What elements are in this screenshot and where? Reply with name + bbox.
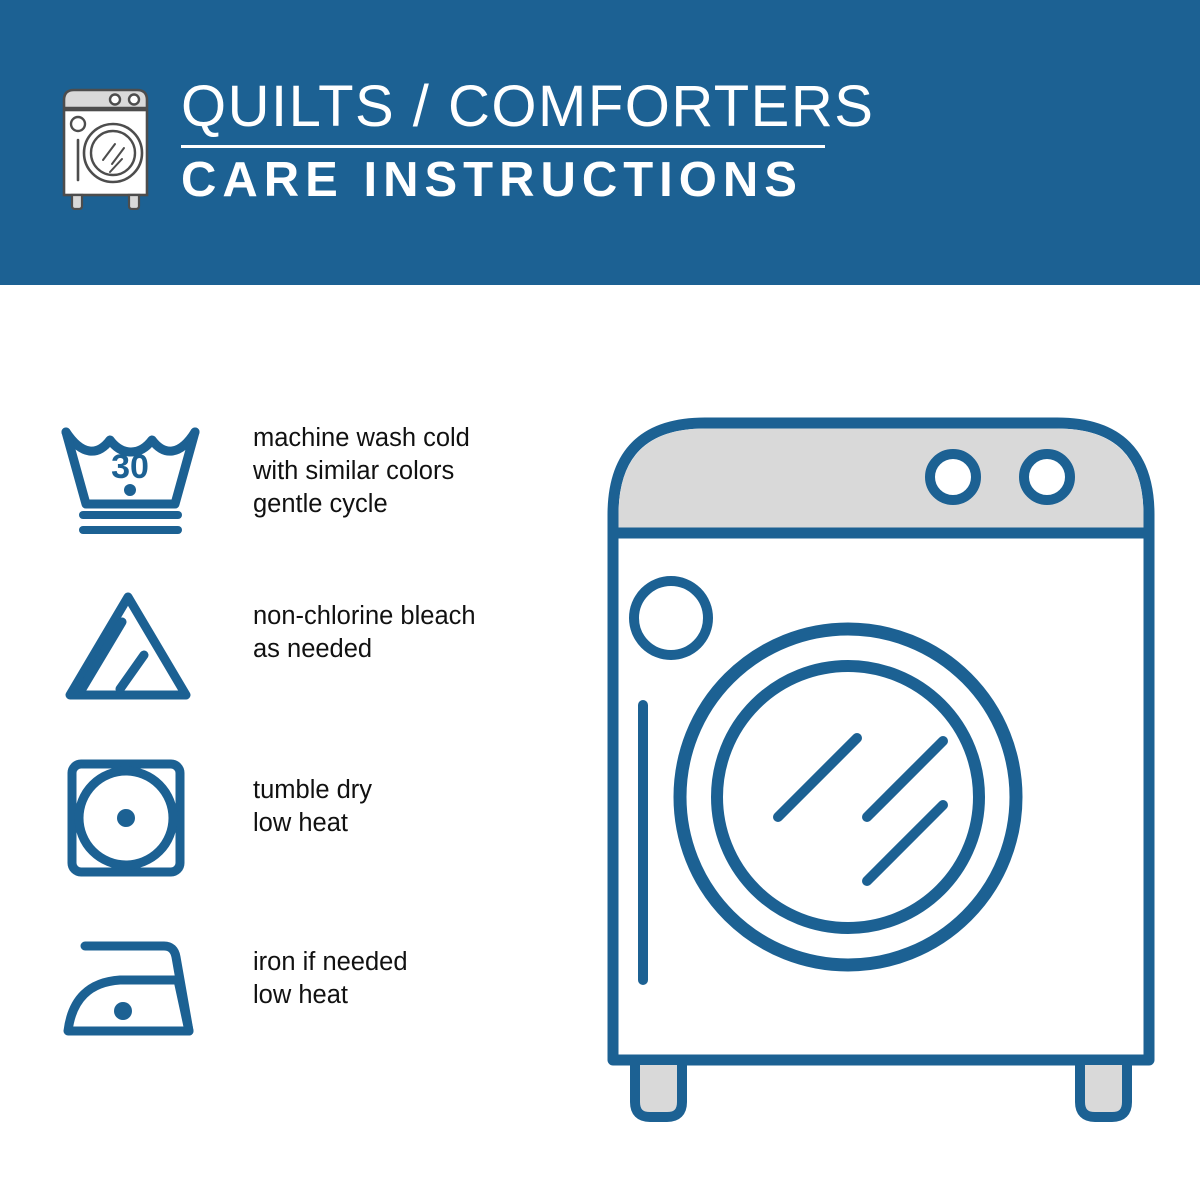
care-instruction-text: iron if needed low heat bbox=[253, 946, 408, 1012]
page-title: QUILTS / COMFORTERS bbox=[181, 78, 874, 136]
care-text-line: non-chlorine bleach bbox=[253, 600, 476, 633]
care-instruction-item: non-chlorine bleach as needed bbox=[0, 573, 560, 746]
door-inner-ring[interactable] bbox=[717, 666, 979, 928]
care-text-line: low heat bbox=[253, 807, 372, 840]
care-text-line: low heat bbox=[253, 979, 408, 1012]
header-banner: QUILTS / COMFORTERS CARE INSTRUCTIONS bbox=[0, 0, 1200, 285]
knob-left[interactable] bbox=[930, 454, 976, 500]
page-subtitle: CARE INSTRUCTIONS bbox=[181, 156, 874, 205]
wash-temperature-value: 30 bbox=[111, 448, 149, 486]
care-instruction-text: machine wash cold with similar colors ge… bbox=[253, 422, 470, 521]
care-text-line: as needed bbox=[253, 633, 476, 666]
care-instruction-item: 30 machine wash cold with similar colors… bbox=[0, 400, 560, 573]
care-text-line: machine wash cold bbox=[253, 422, 470, 455]
care-instruction-text: non-chlorine bleach as needed bbox=[253, 600, 476, 666]
care-text-line: tumble dry bbox=[253, 774, 372, 807]
care-instruction-item: iron if needed low heat bbox=[0, 919, 560, 1092]
header-content: QUILTS / COMFORTERS CARE INSTRUCTIONS bbox=[55, 78, 874, 210]
wash-tub-30-gentle-icon: 30 bbox=[58, 416, 203, 541]
knob-right[interactable] bbox=[1024, 454, 1070, 500]
front-load-washing-machine-illustration bbox=[595, 405, 1175, 1125]
care-text-line: with similar colors bbox=[253, 455, 470, 488]
care-text-line: gentle cycle bbox=[253, 488, 470, 521]
care-instruction-item: tumble dry low heat bbox=[0, 746, 560, 919]
title-divider bbox=[181, 145, 825, 148]
care-instructions-list: 30 machine wash cold with similar colors… bbox=[0, 400, 560, 1092]
header-title-group: QUILTS / COMFORTERS CARE INSTRUCTIONS bbox=[181, 78, 874, 205]
washing-machine-icon bbox=[55, 82, 163, 210]
care-instruction-text: tumble dry low heat bbox=[253, 774, 372, 840]
leg-right bbox=[1080, 1060, 1127, 1117]
bleach-triangle-non-chlorine-icon bbox=[58, 585, 203, 710]
care-text-line: iron if needed bbox=[253, 946, 408, 979]
leg-left bbox=[635, 1060, 682, 1117]
indicator-light bbox=[634, 581, 708, 655]
tumble-dry-low-heat-icon bbox=[58, 756, 203, 881]
iron-low-heat-icon bbox=[58, 931, 203, 1056]
